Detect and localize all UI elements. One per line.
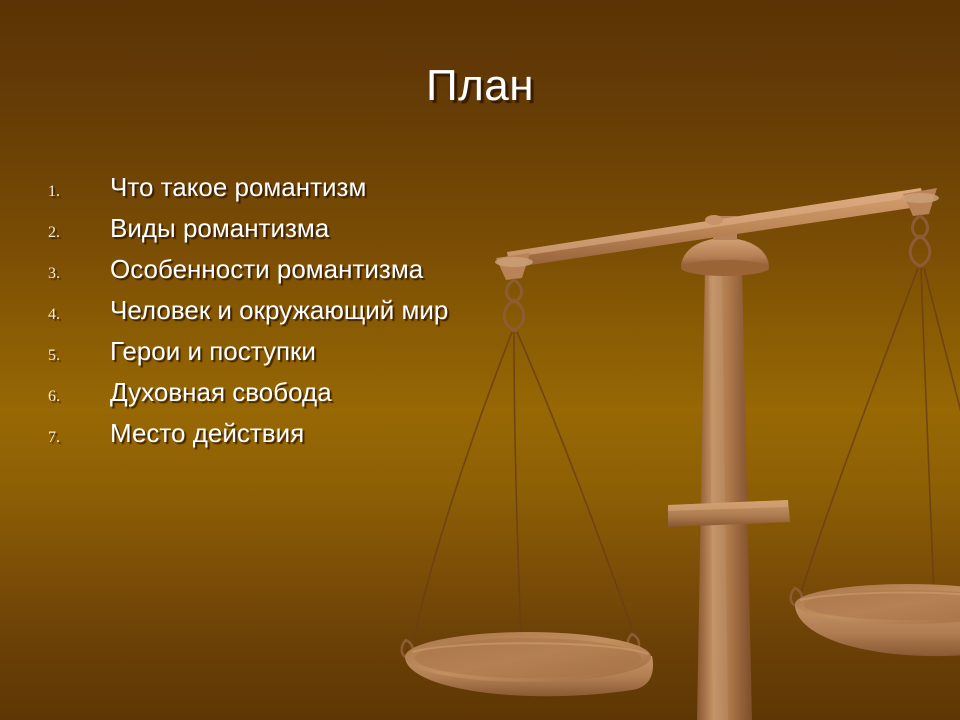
list-item-label: Место действия bbox=[110, 418, 304, 448]
scale-right-hook bbox=[901, 188, 939, 266]
scale-left-string-rings bbox=[402, 634, 639, 666]
plan-list: 1. Что такое романтизм 2. Виды романтизм… bbox=[48, 172, 568, 459]
list-item-label: Духовная свобода bbox=[110, 377, 332, 407]
list-item-label: Что такое романтизм bbox=[110, 172, 366, 202]
list-item: 1. Что такое романтизм bbox=[48, 172, 568, 213]
scale-right-pan bbox=[795, 584, 960, 656]
list-item-label: Герои и поступки bbox=[110, 336, 316, 366]
scale-beam bbox=[507, 188, 924, 268]
list-item-number: 7. bbox=[48, 429, 110, 447]
list-item: 6. Духовная свобода bbox=[48, 377, 568, 418]
list-item: 4. Человек и окружающий мир bbox=[48, 295, 568, 336]
list-item: 5. Герои и поступки bbox=[48, 336, 568, 377]
list-item-number: 1. bbox=[48, 183, 110, 201]
presentation-slide: План 1. Что такое романтизм 2. Виды рома… bbox=[0, 0, 960, 720]
list-item-number: 6. bbox=[48, 388, 110, 406]
scale-pivot-dome bbox=[681, 216, 769, 276]
list-item: 2. Виды романтизма bbox=[48, 213, 568, 254]
slide-title: План bbox=[0, 58, 960, 114]
list-item-label: Особенности романтизма bbox=[110, 254, 423, 284]
list-item-number: 2. bbox=[48, 224, 110, 242]
list-item-number: 4. bbox=[48, 306, 110, 324]
list-item-number: 3. bbox=[48, 265, 110, 283]
scale-right-string-rings bbox=[791, 588, 936, 606]
list-item-number: 5. bbox=[48, 347, 110, 365]
scale-right-strings bbox=[800, 268, 960, 596]
list-item: 7. Место действия bbox=[48, 418, 568, 459]
scale-column bbox=[697, 268, 752, 720]
list-item: 3. Особенности романтизма bbox=[48, 254, 568, 295]
list-item-label: Человек и окружающий мир bbox=[110, 295, 448, 325]
scale-cross-arm bbox=[668, 500, 790, 527]
scale-left-pan bbox=[405, 632, 653, 696]
list-item-label: Виды романтизма bbox=[110, 213, 329, 243]
